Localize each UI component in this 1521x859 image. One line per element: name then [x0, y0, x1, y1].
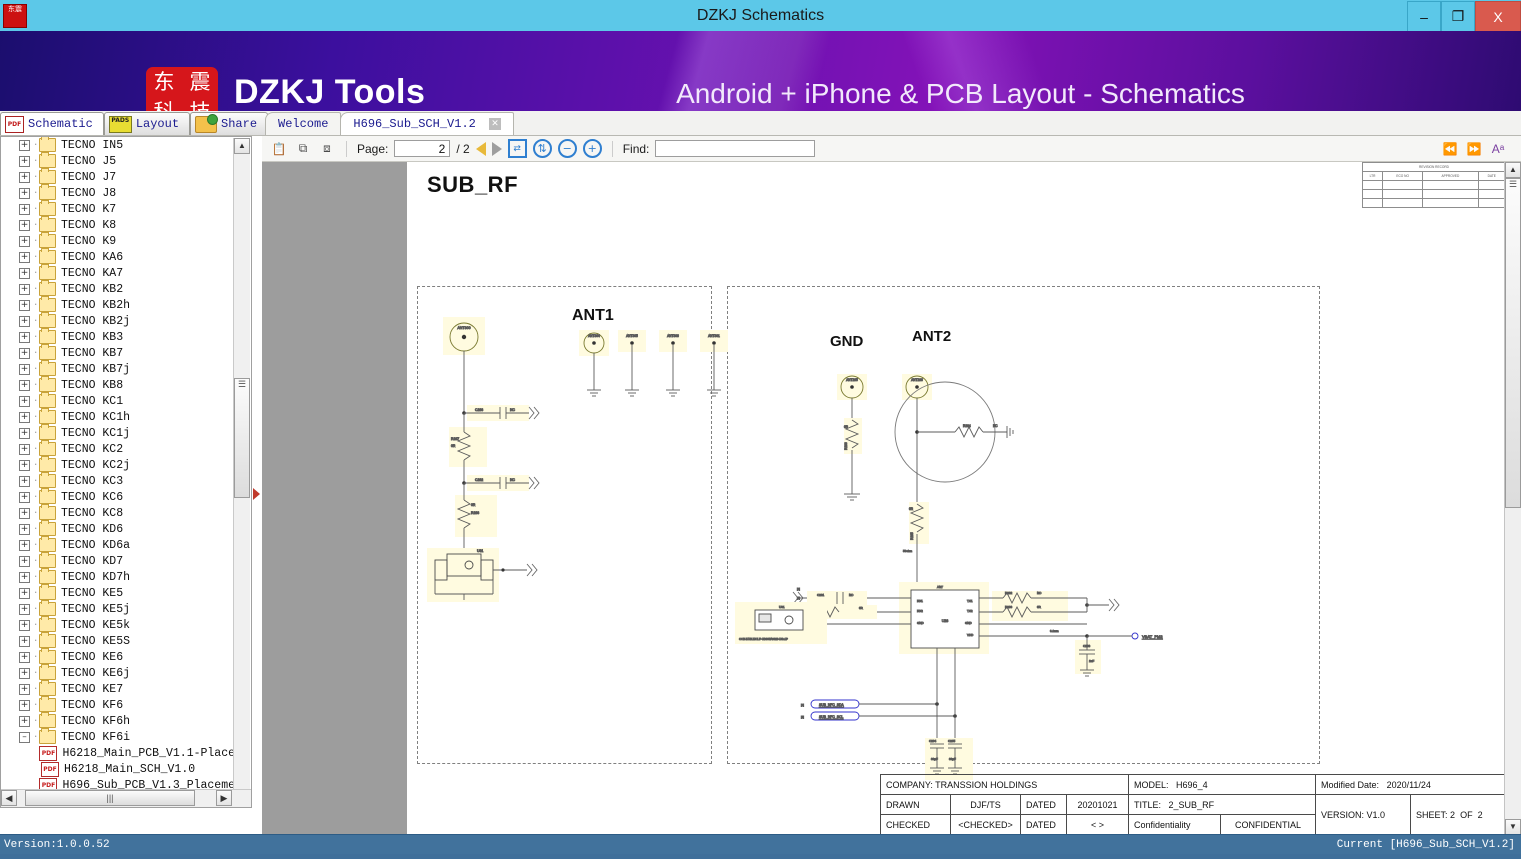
tab-share-label: Share	[221, 117, 257, 131]
folder-icon	[39, 474, 56, 488]
tree-item-label: TECNO KC8	[61, 507, 123, 520]
folder-icon	[39, 346, 56, 360]
tree-item-label: TECNO K7	[61, 203, 116, 216]
find-label: Find:	[623, 142, 650, 156]
folder-icon	[39, 634, 56, 648]
tab-layout-label: Layout	[136, 117, 179, 131]
folder-icon	[39, 554, 56, 568]
prev-page-triangle-icon[interactable]	[476, 142, 486, 156]
folder-icon	[39, 202, 56, 216]
viewer-scroll-up-icon[interactable]: ▲	[1505, 162, 1521, 178]
folder-icon	[39, 522, 56, 536]
expand-icon[interactable]: +	[19, 668, 30, 679]
schematic-title-label: TITLE:	[1134, 800, 1161, 810]
fit-width-icon[interactable]: ⇄	[508, 139, 527, 158]
ant2-region-box	[727, 286, 1320, 764]
folder-icon	[39, 378, 56, 392]
expand-icon[interactable]: +	[19, 236, 30, 247]
folder-icon	[39, 362, 56, 376]
model-cell: MODEL: H696_4	[1129, 775, 1316, 795]
tree-item-label: TECNO KB3	[61, 331, 123, 344]
tree-item-label: TECNO KC2	[61, 443, 123, 456]
tree-item-folder[interactable]: +··TECNO KE5	[1, 585, 235, 601]
page-total-label: / 2	[456, 142, 469, 156]
gnd-section-label: GND	[830, 333, 863, 350]
tree-item-label: TECNO KD7h	[61, 571, 130, 584]
revision-record-table: REVISION RECORD LTR ECO NO APPROVED DATE	[1362, 162, 1506, 208]
folder-icon	[39, 186, 56, 200]
tree-hscrollbar-thumb[interactable]: |||	[25, 790, 195, 806]
tree-horizontal-scrollbar[interactable]: ◀ ||| ▶	[1, 789, 251, 807]
tree-item-folder[interactable]: +··TECNO K8	[1, 217, 235, 233]
tree-item-label: TECNO KA6	[61, 251, 123, 264]
ant1-section-label: ANT1	[572, 307, 614, 325]
tree-item-folder[interactable]: +··TECNO KF6h	[1, 713, 235, 729]
expand-icon[interactable]: +	[19, 220, 30, 231]
checked-label: CHECKED	[881, 815, 951, 835]
tree-item-label: TECNO KE5k	[61, 619, 130, 632]
tree-item-label: TECNO KA7	[61, 267, 123, 280]
tree-item-folder[interactable]: +··TECNO KC1	[1, 393, 235, 409]
schematic-title-value: 2_SUB_RF	[1169, 800, 1215, 810]
tree-item-label: TECNO KC1	[61, 395, 123, 408]
confidentiality-value: CONFIDENTIAL	[1221, 815, 1316, 835]
tree-item-label: TECNO IN5	[61, 139, 123, 152]
window-title: DZKJ Schematics	[0, 0, 1521, 31]
page-input[interactable]	[394, 140, 450, 157]
folder-icon	[39, 138, 56, 152]
tree-item-folder[interactable]: +··TECNO KD7h	[1, 569, 235, 585]
pads-icon: PADS	[109, 116, 132, 133]
expand-icon[interactable]: +	[19, 588, 30, 599]
folder-icon	[39, 458, 56, 472]
status-bar: Version:1.0.0.52 Current [H696_Sub_SCH_V…	[0, 834, 1521, 859]
tree-item-folder[interactable]: +··TECNO KB8	[1, 377, 235, 393]
tree-item-folder[interactable]: +··TECNO J5	[1, 153, 235, 169]
scroll-right-arrow-icon[interactable]: ▶	[216, 790, 232, 806]
folder-icon	[39, 650, 56, 664]
tree-item-label: TECNO KD6	[61, 523, 123, 536]
tree-item-label: H6218_Main_SCH_V1.0	[64, 763, 195, 776]
tree-item-folder[interactable]: +··TECNO KE7	[1, 681, 235, 697]
folder-icon	[39, 426, 56, 440]
tree-item-folder[interactable]: +··TECNO KE5k	[1, 617, 235, 633]
close-button[interactable]: X	[1475, 1, 1521, 32]
table-row	[1363, 190, 1506, 199]
next-page-triangle-icon[interactable]	[492, 142, 502, 156]
pdf-icon: PDF	[5, 116, 24, 133]
tree-item-label: TECNO K8	[61, 219, 116, 232]
folder-icon	[39, 698, 56, 712]
model-label: MODEL:	[1134, 780, 1169, 790]
expand-icon[interactable]: +	[19, 636, 30, 647]
expand-icon[interactable]: +	[19, 188, 30, 199]
window-controls: – ❐ X	[1407, 0, 1521, 31]
tree-item-folder[interactable]: –··TECNO KF6i	[1, 729, 235, 745]
folder-icon	[39, 250, 56, 264]
folder-icon	[39, 714, 56, 728]
viewer-toolbar: 📋 ⧉ ⧈ Page: / 2 ⇄ ⇅ − + Find: ⏪ ⏩ Aᵃ	[262, 136, 1521, 162]
pdf-viewer[interactable]: SUB_RF REVISION RECORD LTR ECO NO APPROV…	[262, 162, 1521, 835]
expand-icon[interactable]: +	[19, 652, 30, 663]
tree-item-label: TECNO KE7	[61, 683, 123, 696]
tree-item-folder[interactable]: +··TECNO KE6	[1, 649, 235, 665]
expand-icon[interactable]: +	[19, 604, 30, 615]
expand-icon[interactable]: +	[19, 396, 30, 407]
title-cell: TITLE: 2_SUB_RF	[1129, 795, 1316, 815]
tree-item-label: TECNO KE5S	[61, 635, 130, 648]
drawn-label: DRAWN	[881, 795, 951, 815]
expand-icon[interactable]: +	[19, 716, 30, 727]
tree-item-folder[interactable]: +··TECNO KD6a	[1, 537, 235, 553]
window-titlebar: 东震 DZKJ Schematics – ❐ X	[0, 0, 1521, 32]
expand-icon[interactable]: +	[19, 508, 30, 519]
tree-item-label: TECNO KB7	[61, 347, 123, 360]
modified-date-value: 2020/11/24	[1387, 780, 1431, 790]
tab-schematic[interactable]: PDF Schematic	[0, 112, 104, 135]
version-cell: VERSION: V1.0	[1316, 795, 1411, 835]
doc-tab-welcome[interactable]: Welcome	[265, 112, 341, 135]
title-block-row-1: COMPANY: TRANSSION HOLDINGS MODEL: H696_…	[881, 775, 1506, 795]
sheet-of-label: OF	[1460, 810, 1473, 820]
tree-item-label: H6218_Main_PCB_V1.1-Place	[62, 747, 235, 760]
tree-item-label: TECNO K9	[61, 235, 116, 248]
tree-item-label: TECNO KF6	[61, 699, 123, 712]
status-current-file: Current [H696_Sub_SCH_V1.2]	[1337, 839, 1515, 851]
tree-item-label: TECNO KB2h	[61, 299, 130, 312]
tree-item-folder[interactable]: +··TECNO KD7	[1, 553, 235, 569]
doc-tab-h696-label: H696_Sub_SCH_V1.2	[353, 117, 475, 131]
tree-item-label: TECNO KE5	[61, 587, 123, 600]
app-banner: 东 震 科 技 DZKJ Tools Android + iPhone & PC…	[0, 31, 1521, 111]
scroll-up-arrow-icon[interactable]: ▲	[234, 138, 250, 154]
checked-dated-label: DATED	[1021, 815, 1067, 835]
zoom-out-icon[interactable]: −	[558, 139, 577, 158]
folder-icon	[39, 730, 56, 744]
tree-item-folder[interactable]: +··TECNO IN5	[1, 137, 235, 153]
expand-icon[interactable]: +	[19, 172, 30, 183]
expand-icon[interactable]: +	[19, 556, 30, 567]
tree-item-file[interactable]: PDFH6218_Main_PCB_V1.1-Place	[1, 745, 235, 761]
tree-item-folder[interactable]: +··TECNO KB7	[1, 345, 235, 361]
expand-icon[interactable]: +	[19, 204, 30, 215]
toolbar-separator-1	[346, 141, 347, 157]
folder-icon	[39, 234, 56, 248]
drawn-dated-value: 20201021	[1067, 795, 1129, 815]
search-input[interactable]	[655, 140, 815, 157]
toolbar-separator-2	[612, 141, 613, 157]
expand-icon[interactable]: +	[19, 316, 30, 327]
tree-item-label: TECNO J5	[61, 155, 116, 168]
file-tree-list[interactable]: +··TECNO IN5+··TECNO J5+··TECNO J7+··TEC…	[1, 137, 235, 807]
tree-item-label: TECNO J8	[61, 187, 116, 200]
modified-date-label: Modified Date:	[1321, 780, 1379, 790]
sheet-total: 2	[1478, 810, 1483, 820]
folder-icon	[39, 394, 56, 408]
minimize-button[interactable]: –	[1407, 1, 1441, 32]
tree-vertical-scrollbar[interactable]: ▲ ☰ ▼	[233, 138, 250, 806]
match-case-icon[interactable]: Aᵃ	[1489, 140, 1507, 158]
tree-item-folder[interactable]: +··TECNO KE6j	[1, 665, 235, 681]
tree-item-folder[interactable]: +··TECNO KC1h	[1, 409, 235, 425]
tree-item-label: TECNO KE5j	[61, 603, 130, 616]
tree-item-folder[interactable]: +··TECNO KF6	[1, 697, 235, 713]
revision-record-title: REVISION RECORD	[1363, 163, 1506, 172]
model-value: H696_4	[1176, 780, 1208, 790]
table-row	[1363, 181, 1506, 190]
schematic-page: SUB_RF REVISION RECORD LTR ECO NO APPROV…	[407, 162, 1507, 835]
pdf-file-icon: PDF	[41, 762, 59, 777]
tree-item-label: TECNO KC1j	[61, 427, 130, 440]
tree-item-label: TECNO KB8	[61, 379, 123, 392]
tree-item-folder[interactable]: +··TECNO KC1j	[1, 425, 235, 441]
tree-item-folder[interactable]: +··TECNO KC2	[1, 441, 235, 457]
tree-item-label: TECNO KC1h	[61, 411, 130, 424]
fit-page-icon[interactable]: ⇅	[533, 139, 552, 158]
expand-icon[interactable]: +	[19, 268, 30, 279]
tree-item-folder[interactable]: +··TECNO KA6	[1, 249, 235, 265]
tree-item-label: TECNO KE6	[61, 651, 123, 664]
find-previous-icon[interactable]: ⏪	[1441, 140, 1459, 158]
close-icon[interactable]: ✕	[489, 118, 501, 130]
folder-icon	[39, 170, 56, 184]
expand-icon[interactable]: +	[19, 156, 30, 167]
tree-item-folder[interactable]: +··TECNO KB2j	[1, 313, 235, 329]
panel-splitter-handle[interactable]	[253, 488, 260, 500]
folder-icon	[39, 266, 56, 280]
expand-icon[interactable]: +	[19, 428, 30, 439]
page-label: Page:	[357, 142, 388, 156]
checked-dated-value: < >	[1067, 815, 1129, 835]
rev-col-date: DATE	[1478, 172, 1505, 181]
expand-icon[interactable]: +	[19, 252, 30, 263]
viewer-vertical-scrollbar[interactable]: ▲ ☰ ▼	[1504, 162, 1521, 835]
folder-icon	[39, 282, 56, 296]
sheet-value: 2	[1450, 810, 1455, 820]
tree-item-label: TECNO KC2j	[61, 459, 130, 472]
folder-icon	[39, 330, 56, 344]
tree-item-folder[interactable]: +··TECNO KE5S	[1, 633, 235, 649]
tree-item-file[interactable]: PDFH6218_Main_SCH_V1.0	[1, 761, 235, 777]
expand-icon[interactable]: +	[19, 412, 30, 423]
tree-item-label: TECNO KB2j	[61, 315, 130, 328]
folder-icon	[39, 314, 56, 328]
tree-item-folder[interactable]: +··TECNO KC3	[1, 473, 235, 489]
collapse-icon[interactable]: –	[19, 732, 30, 743]
ant2-section-label: ANT2	[912, 328, 951, 345]
expand-icon[interactable]: +	[19, 348, 30, 359]
tree-item-folder[interactable]: +··TECNO KE5j	[1, 601, 235, 617]
duplicate-page-right-icon[interactable]: ⧈	[318, 140, 336, 158]
expand-icon[interactable]: +	[19, 492, 30, 503]
doc-tab-h696-sub-sch[interactable]: H696_Sub_SCH_V1.2 ✕	[340, 112, 514, 135]
doc-tab-welcome-label: Welcome	[278, 117, 328, 131]
folder-icon	[39, 154, 56, 168]
folder-icon	[39, 538, 56, 552]
tab-layout[interactable]: PADS Layout	[104, 112, 190, 135]
sheet-label: SHEET:	[1416, 810, 1448, 820]
tree-item-folder[interactable]: +··TECNO KB3	[1, 329, 235, 345]
confidentiality-label: Confidentiality	[1129, 815, 1221, 835]
tree-item-label: TECNO KC6	[61, 491, 123, 504]
folder-icon	[39, 490, 56, 504]
folder-icon	[39, 666, 56, 680]
document-tabs: Welcome H696_Sub_SCH_V1.2 ✕	[265, 111, 513, 135]
drawn-dated-label: DATED	[1021, 795, 1067, 815]
tree-item-folder[interactable]: +··TECNO KA7	[1, 265, 235, 281]
tree-item-folder[interactable]: +··TECNO KC6	[1, 489, 235, 505]
expand-icon[interactable]: +	[19, 284, 30, 295]
duplicate-page-left-icon[interactable]: ⧉	[294, 140, 312, 158]
sheet-cell: SHEET: 2 OF 2	[1411, 795, 1506, 835]
drawn-value: DJF/TS	[951, 795, 1021, 815]
expand-icon[interactable]: +	[19, 460, 30, 471]
expand-icon[interactable]: +	[19, 684, 30, 695]
copy-page-icon[interactable]: 📋	[270, 140, 288, 158]
folder-icon	[39, 602, 56, 616]
folder-icon	[39, 410, 56, 424]
expand-icon[interactable]: +	[19, 364, 30, 375]
status-version: Version:1.0.0.52	[4, 839, 110, 851]
tree-item-label: TECNO KF6h	[61, 715, 130, 728]
tree-item-folder[interactable]: +··TECNO KB2h	[1, 297, 235, 313]
page-title: SUB_RF	[427, 172, 518, 198]
viewer-scrollbar-thumb[interactable]: ☰	[1505, 178, 1521, 508]
tree-item-label: TECNO KF6i	[61, 731, 130, 744]
company-cell: COMPANY: TRANSSION HOLDINGS	[881, 775, 1129, 795]
expand-icon[interactable]: +	[19, 700, 30, 711]
expand-icon[interactable]: +	[19, 620, 30, 631]
tree-item-folder[interactable]: +··TECNO K7	[1, 201, 235, 217]
rev-col-eco: ECO NO	[1383, 172, 1423, 181]
expand-icon[interactable]: +	[19, 476, 30, 487]
tree-item-label: TECNO KD7	[61, 555, 123, 568]
folder-icon	[39, 570, 56, 584]
tree-item-folder[interactable]: +··TECNO KC2j	[1, 457, 235, 473]
maximize-button[interactable]: ❐	[1441, 1, 1475, 32]
folder-icon	[39, 682, 56, 696]
tab-share[interactable]: Share	[190, 112, 268, 135]
pdf-file-icon: PDF	[39, 746, 57, 761]
checked-value: <CHECKED>	[951, 815, 1021, 835]
viewer-scroll-down-icon[interactable]: ▼	[1505, 819, 1521, 835]
expand-icon[interactable]: +	[19, 300, 30, 311]
title-block-table: COMPANY: TRANSSION HOLDINGS MODEL: H696_…	[880, 774, 1506, 835]
expand-icon[interactable]: +	[19, 332, 30, 343]
file-tree-panel: +··TECNO IN5+··TECNO J5+··TECNO J7+··TEC…	[0, 136, 252, 808]
folder-icon	[39, 298, 56, 312]
expand-icon[interactable]: +	[19, 524, 30, 535]
tree-item-label: TECNO KB2	[61, 283, 123, 296]
tree-item-folder[interactable]: +··TECNO K9	[1, 233, 235, 249]
tree-item-label: TECNO KC3	[61, 475, 123, 488]
folder-icon	[39, 218, 56, 232]
tree-item-folder[interactable]: +··TECNO J8	[1, 185, 235, 201]
rev-col-approved: APPROVED	[1423, 172, 1478, 181]
tree-item-label: TECNO J7	[61, 171, 116, 184]
tab-schematic-label: Schematic	[28, 117, 93, 131]
modified-date-cell: Modified Date: 2020/11/24	[1316, 775, 1506, 795]
tree-item-folder[interactable]: +··TECNO J7	[1, 169, 235, 185]
folder-icon	[39, 506, 56, 520]
tree-item-label: TECNO KB7j	[61, 363, 130, 376]
banner-tagline: Android + iPhone & PCB Layout - Schemati…	[0, 78, 1521, 110]
folder-icon	[39, 586, 56, 600]
find-next-icon[interactable]: ⏩	[1465, 140, 1483, 158]
tree-item-folder[interactable]: +··TECNO KD6	[1, 521, 235, 537]
mode-tabs: PDF Schematic PADS Layout Share	[0, 111, 268, 135]
ant1-region-box	[417, 286, 712, 764]
expand-icon[interactable]: +	[19, 444, 30, 455]
rev-col-ltr: LTR	[1363, 172, 1383, 181]
expand-icon[interactable]: +	[19, 540, 30, 551]
tree-item-label: TECNO KE6j	[61, 667, 130, 680]
folder-icon	[39, 618, 56, 632]
tree-item-folder[interactable]: +··TECNO KB7j	[1, 361, 235, 377]
title-block-row-2: DRAWN DJF/TS DATED 20201021 TITLE: 2_SUB…	[881, 795, 1506, 815]
tree-scrollbar-thumb[interactable]: ☰	[234, 378, 250, 498]
zoom-in-icon[interactable]: +	[583, 139, 602, 158]
folder-icon	[39, 442, 56, 456]
expand-icon[interactable]: +	[19, 140, 30, 151]
expand-icon[interactable]: +	[19, 380, 30, 391]
table-row	[1363, 199, 1506, 208]
folder-share-icon	[195, 116, 217, 133]
tree-item-label: TECNO KD6a	[61, 539, 130, 552]
tree-item-folder[interactable]: +··TECNO KB2	[1, 281, 235, 297]
tree-item-folder[interactable]: +··TECNO KC8	[1, 505, 235, 521]
scroll-left-arrow-icon[interactable]: ◀	[1, 790, 17, 806]
expand-icon[interactable]: +	[19, 572, 30, 583]
